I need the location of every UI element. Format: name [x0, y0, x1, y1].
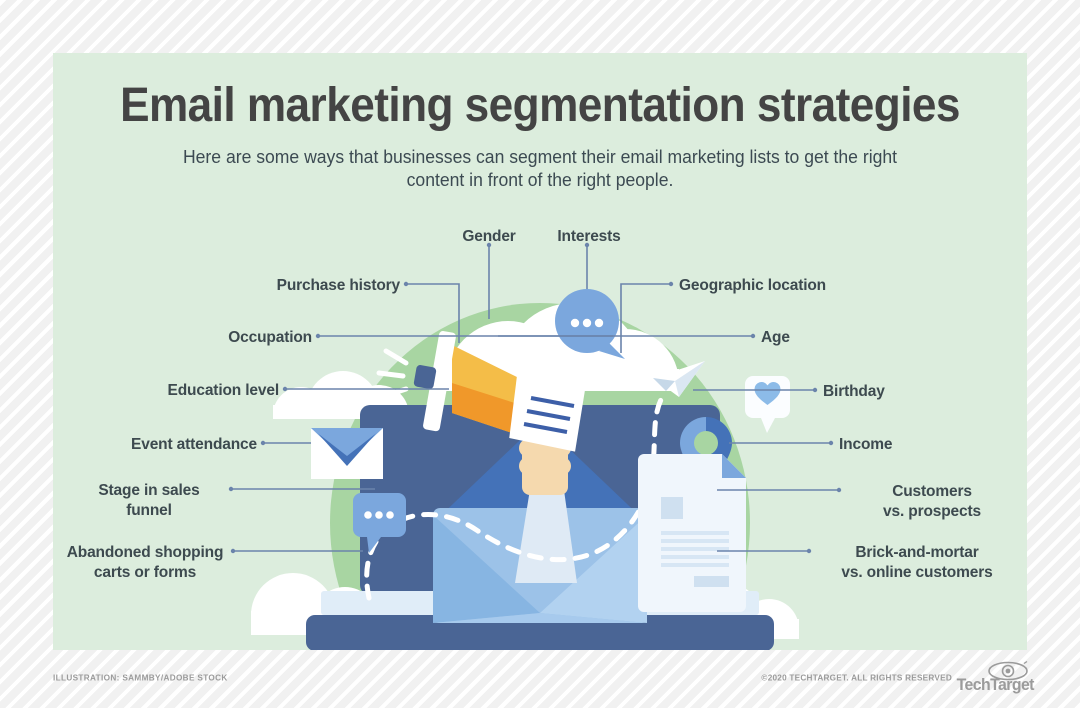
label-education-level: Education level	[118, 381, 279, 401]
label-occupation: Occupation	[118, 328, 312, 348]
infographic-card: Email marketing segmentation strategies …	[53, 53, 1027, 650]
megaphone-grip	[413, 364, 437, 389]
techtarget-wordmark: TechTarget	[957, 676, 1034, 695]
label-event-attendance: Event attendance	[73, 435, 257, 455]
label-purchase-history: Purchase history	[118, 276, 400, 296]
label-abandoned-carts: Abandoned shopping carts or forms	[63, 543, 227, 584]
label-age: Age	[761, 328, 881, 348]
page-subtitle: Here are some ways that businesses can s…	[179, 145, 901, 191]
label-brick-and-mortar: Brick-and-mortar vs. online customers	[809, 543, 1025, 584]
label-income: Income	[839, 435, 979, 455]
label-interests: Interests	[521, 227, 657, 247]
label-birthday: Birthday	[823, 382, 963, 402]
document-icon	[638, 454, 746, 612]
label-customers-vs-prospects: Customers vs. prospects	[847, 482, 1017, 523]
heart-bubble-icon	[745, 376, 790, 433]
illustration-credit: ILLUSTRATION: SAMMBY/ADOBE STOCK	[53, 674, 228, 683]
mail-icon	[311, 428, 383, 479]
doc-thumb	[661, 497, 683, 519]
page-title: Email marketing segmentation strategies	[92, 78, 988, 133]
copyright-notice: ©2020 TECHTARGET. ALL RIGHTS RESERVED	[761, 674, 952, 683]
label-stage-in-sales-funnel: Stage in sales funnel	[73, 481, 225, 522]
techtarget-logo: TechTarget	[955, 661, 1031, 695]
label-geographic-location: Geographic location	[679, 276, 929, 296]
